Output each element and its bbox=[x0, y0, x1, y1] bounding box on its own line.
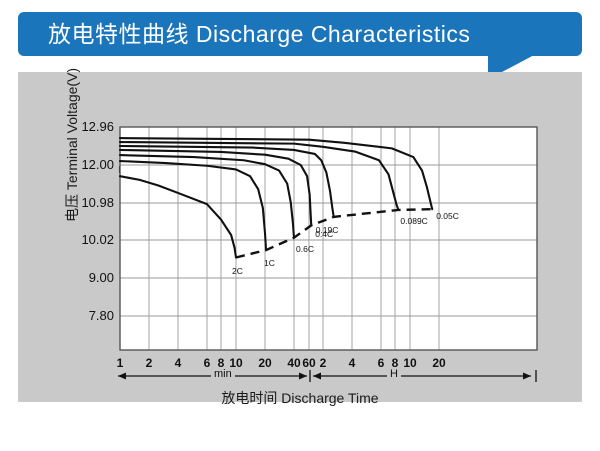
curve-label: 0.05C bbox=[436, 211, 459, 221]
header-bubble-tail bbox=[488, 54, 536, 72]
x-tick-label: 4 bbox=[166, 356, 190, 370]
x-tick-label: 10 bbox=[398, 356, 422, 370]
page-header: 放电特性曲线 Discharge Characteristics bbox=[18, 12, 582, 64]
page-title: 放电特性曲线 Discharge Characteristics bbox=[48, 12, 470, 56]
y-tick-label: 12.00 bbox=[52, 157, 114, 172]
x-tick-label: 2 bbox=[137, 356, 161, 370]
y-tick-label: 10.02 bbox=[52, 232, 114, 247]
x-axis-arrow-hours bbox=[313, 373, 531, 380]
x-tick-label: 4 bbox=[340, 356, 364, 370]
x-tick-label: 20 bbox=[427, 356, 451, 370]
discharge-characteristics-page: 放电特性曲线 Discharge Characteristics 电压 Term… bbox=[0, 0, 600, 451]
curve-label: 0.6C bbox=[296, 244, 314, 254]
x-tick-label: 20 bbox=[253, 356, 277, 370]
x-axis-unit-min: min bbox=[211, 368, 235, 380]
x-tick-label: 1 bbox=[108, 356, 132, 370]
y-tick-label: 10.98 bbox=[52, 195, 114, 210]
x-axis-title: 放电时间 Discharge Time bbox=[0, 388, 600, 408]
y-tick-label: 7.80 bbox=[52, 308, 114, 323]
x-axis-unit-hour: H bbox=[387, 368, 401, 380]
x-tick-label: 2 bbox=[311, 356, 335, 370]
curve-label: 2C bbox=[232, 266, 243, 276]
curve-label: 0.19C bbox=[316, 225, 339, 235]
curve-label: 1C bbox=[264, 258, 275, 268]
chart-panel: 电压 Terminal Voltage(V) 12V Battery (V) 温… bbox=[18, 72, 582, 402]
y-tick-label: 9.00 bbox=[52, 270, 114, 285]
curve-label: 0.089C bbox=[400, 216, 427, 226]
y-tick-label: 12.96 bbox=[52, 119, 114, 134]
